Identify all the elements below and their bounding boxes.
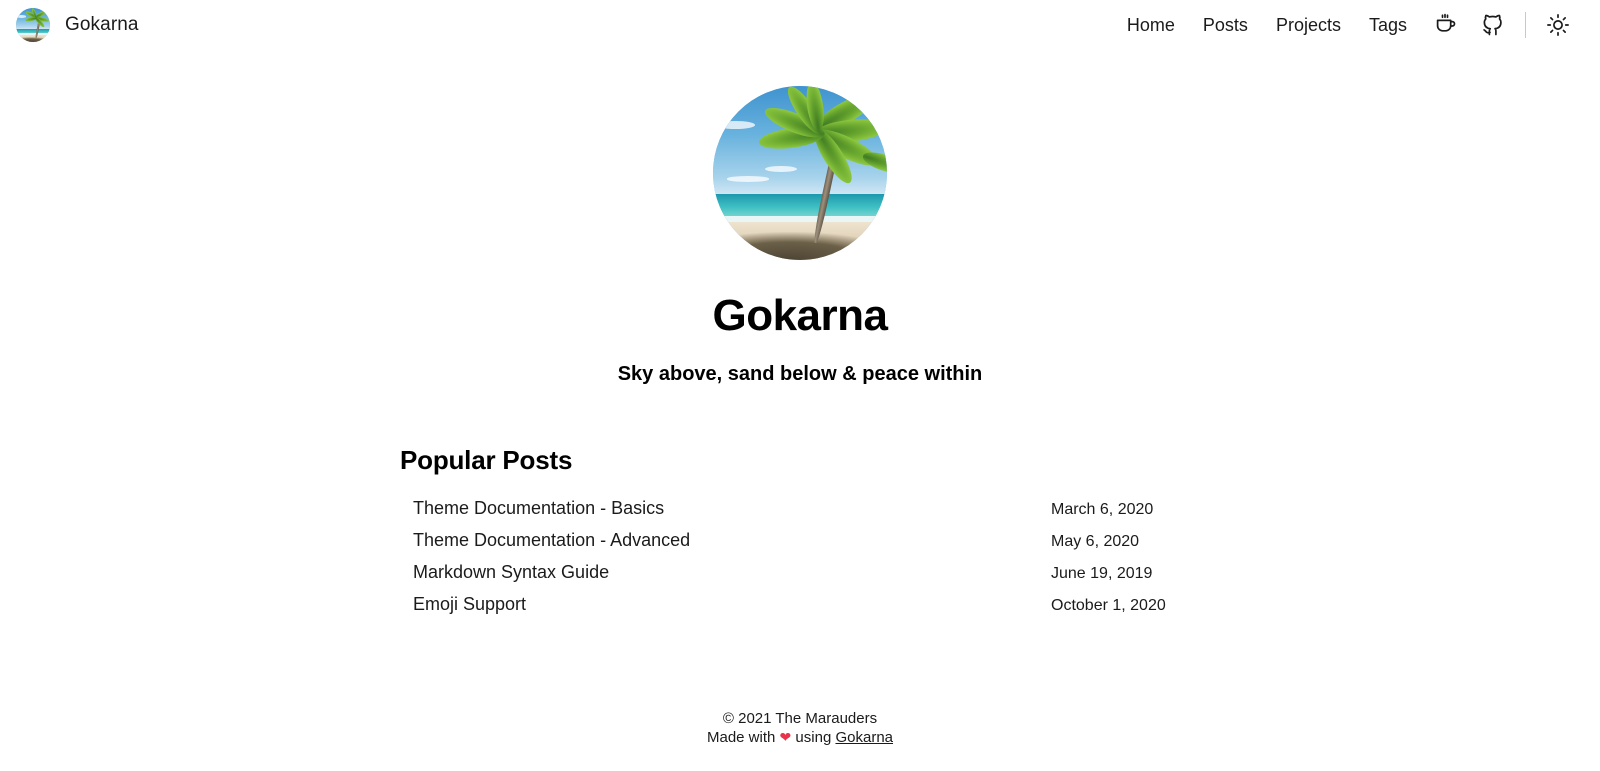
site-footer: © 2021 The Marauders Made with ❤ using G… — [0, 709, 1600, 747]
footer-copyright: © 2021 The Marauders — [0, 709, 1600, 728]
coffee-cup-icon[interactable] — [1421, 13, 1469, 37]
nav-link-home[interactable]: Home — [1113, 16, 1189, 34]
heart-icon: ❤ — [780, 729, 792, 745]
page-subtitle: Sky above, sand below & peace within — [0, 362, 1600, 386]
brand-home-link[interactable]: Gokarna — [16, 8, 139, 42]
hero-avatar — [713, 86, 887, 260]
post-title[interactable]: Emoji Support — [413, 594, 526, 615]
site-header: Gokarna Home Posts Projects Tags — [0, 0, 1600, 50]
sun-icon[interactable] — [1534, 13, 1584, 37]
post-title[interactable]: Theme Documentation - Basics — [413, 498, 664, 519]
list-item[interactable]: Emoji Support October 1, 2020 — [400, 588, 1200, 620]
nav-link-tags[interactable]: Tags — [1355, 16, 1421, 34]
list-item[interactable]: Markdown Syntax Guide June 19, 2019 — [400, 556, 1200, 588]
footer-made-with-text: Made with — [707, 729, 780, 746]
post-date: March 6, 2020 — [1051, 501, 1271, 519]
nav-link-posts[interactable]: Posts — [1189, 16, 1262, 34]
popular-posts-heading: Popular Posts — [400, 445, 1200, 476]
post-title[interactable]: Theme Documentation - Advanced — [413, 530, 690, 551]
footer-credit: Made with ❤ using Gokarna — [0, 728, 1600, 747]
footer-theme-link[interactable]: Gokarna — [835, 729, 893, 746]
main-navigation: Home Posts Projects Tags — [1113, 12, 1584, 38]
brand-name: Gokarna — [65, 14, 139, 36]
hero-section: Gokarna Sky above, sand below & peace wi… — [0, 50, 1600, 386]
popular-posts-list: Theme Documentation - Basics March 6, 20… — [400, 492, 1200, 620]
footer-using-text: using — [791, 729, 835, 746]
nav-divider — [1525, 12, 1526, 38]
list-item[interactable]: Theme Documentation - Advanced May 6, 20… — [400, 524, 1200, 556]
main-content: Popular Posts Theme Documentation - Basi… — [400, 386, 1200, 620]
list-item[interactable]: Theme Documentation - Basics March 6, 20… — [400, 492, 1200, 524]
post-date: October 1, 2020 — [1051, 597, 1271, 615]
brand-avatar — [16, 8, 50, 42]
github-icon[interactable] — [1469, 13, 1517, 37]
page-title: Gokarna — [0, 292, 1600, 340]
post-title[interactable]: Markdown Syntax Guide — [413, 562, 609, 583]
post-date: May 6, 2020 — [1051, 533, 1271, 551]
post-date: June 19, 2019 — [1051, 565, 1271, 583]
nav-link-projects[interactable]: Projects — [1262, 16, 1355, 34]
